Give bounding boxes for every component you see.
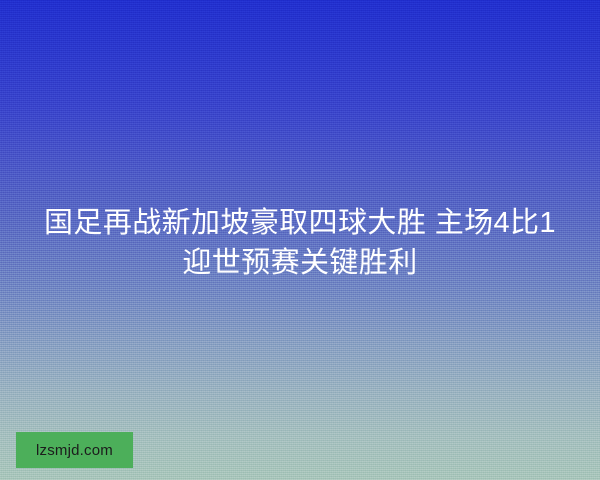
poster-canvas: 国足再战新加坡豪取四球大胜 主场4比1 迎世预赛关键胜利 lzsmjd.com xyxy=(0,0,600,480)
watermark-badge: lzsmjd.com xyxy=(16,432,133,468)
watermark-label: lzsmjd.com xyxy=(36,443,113,458)
headline-text: 国足再战新加坡豪取四球大胜 主场4比1 迎世预赛关键胜利 xyxy=(0,203,600,283)
